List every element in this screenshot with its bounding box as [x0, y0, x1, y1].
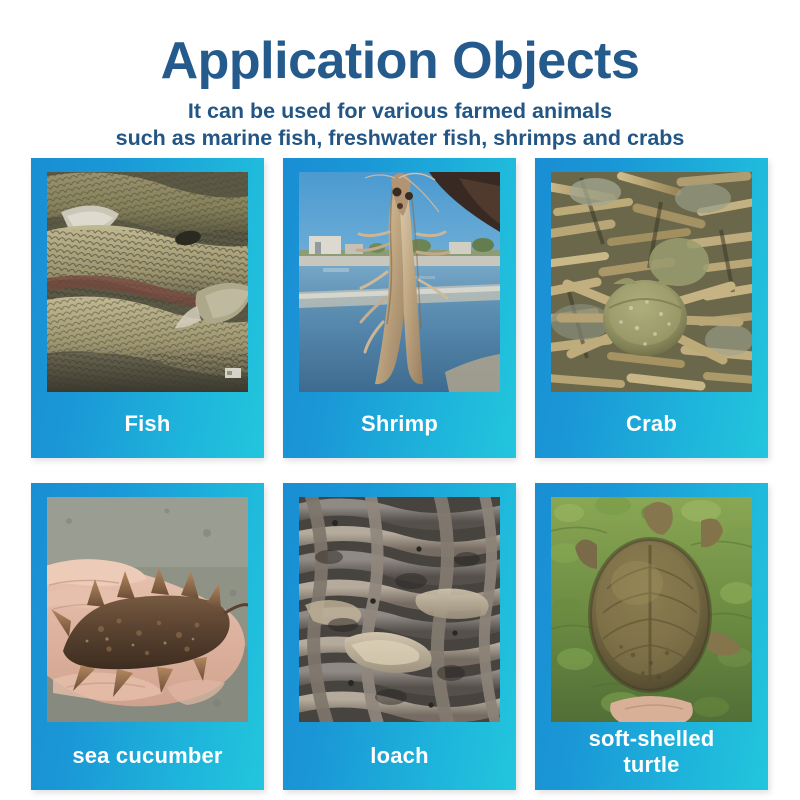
card-label-soft-shelled-turtle: soft-shelled turtle	[535, 718, 768, 786]
card-shrimp[interactable]: Shrimp	[283, 158, 516, 458]
card-loach[interactable]: loach	[283, 483, 516, 790]
crab-photo	[551, 172, 752, 392]
turtle-label-line-2: turtle	[623, 752, 679, 777]
card-label-shrimp: Shrimp	[283, 392, 516, 456]
card-label-sea-cucumber: sea cucumber	[31, 722, 264, 790]
turtle-label-line-1: soft-shelled	[589, 726, 715, 751]
loach-photo	[299, 497, 500, 722]
soft-shelled-turtle-photo	[551, 497, 752, 722]
card-fish[interactable]: Fish	[31, 158, 264, 458]
shrimp-photo	[299, 172, 500, 392]
card-soft-shelled-turtle[interactable]: soft-shelled turtle	[535, 483, 768, 790]
sea-cucumber-photo	[47, 497, 248, 722]
header: Application Objects It can be used for v…	[0, 0, 800, 153]
subtitle-line-2: such as marine fish, freshwater fish, sh…	[0, 125, 800, 153]
subtitle-block: It can be used for various farmed animal…	[0, 98, 800, 153]
page-title: Application Objects	[0, 0, 800, 89]
card-label-fish: Fish	[31, 392, 264, 456]
card-crab[interactable]: Crab	[535, 158, 768, 458]
card-label-loach: loach	[283, 722, 516, 790]
fish-photo	[47, 172, 248, 392]
card-label-crab: Crab	[535, 392, 768, 456]
infographic-page: Application Objects It can be used for v…	[0, 0, 800, 800]
application-objects-grid: Fish	[31, 158, 768, 790]
subtitle-line-1: It can be used for various farmed animal…	[0, 98, 800, 126]
card-sea-cucumber[interactable]: sea cucumber	[31, 483, 264, 790]
